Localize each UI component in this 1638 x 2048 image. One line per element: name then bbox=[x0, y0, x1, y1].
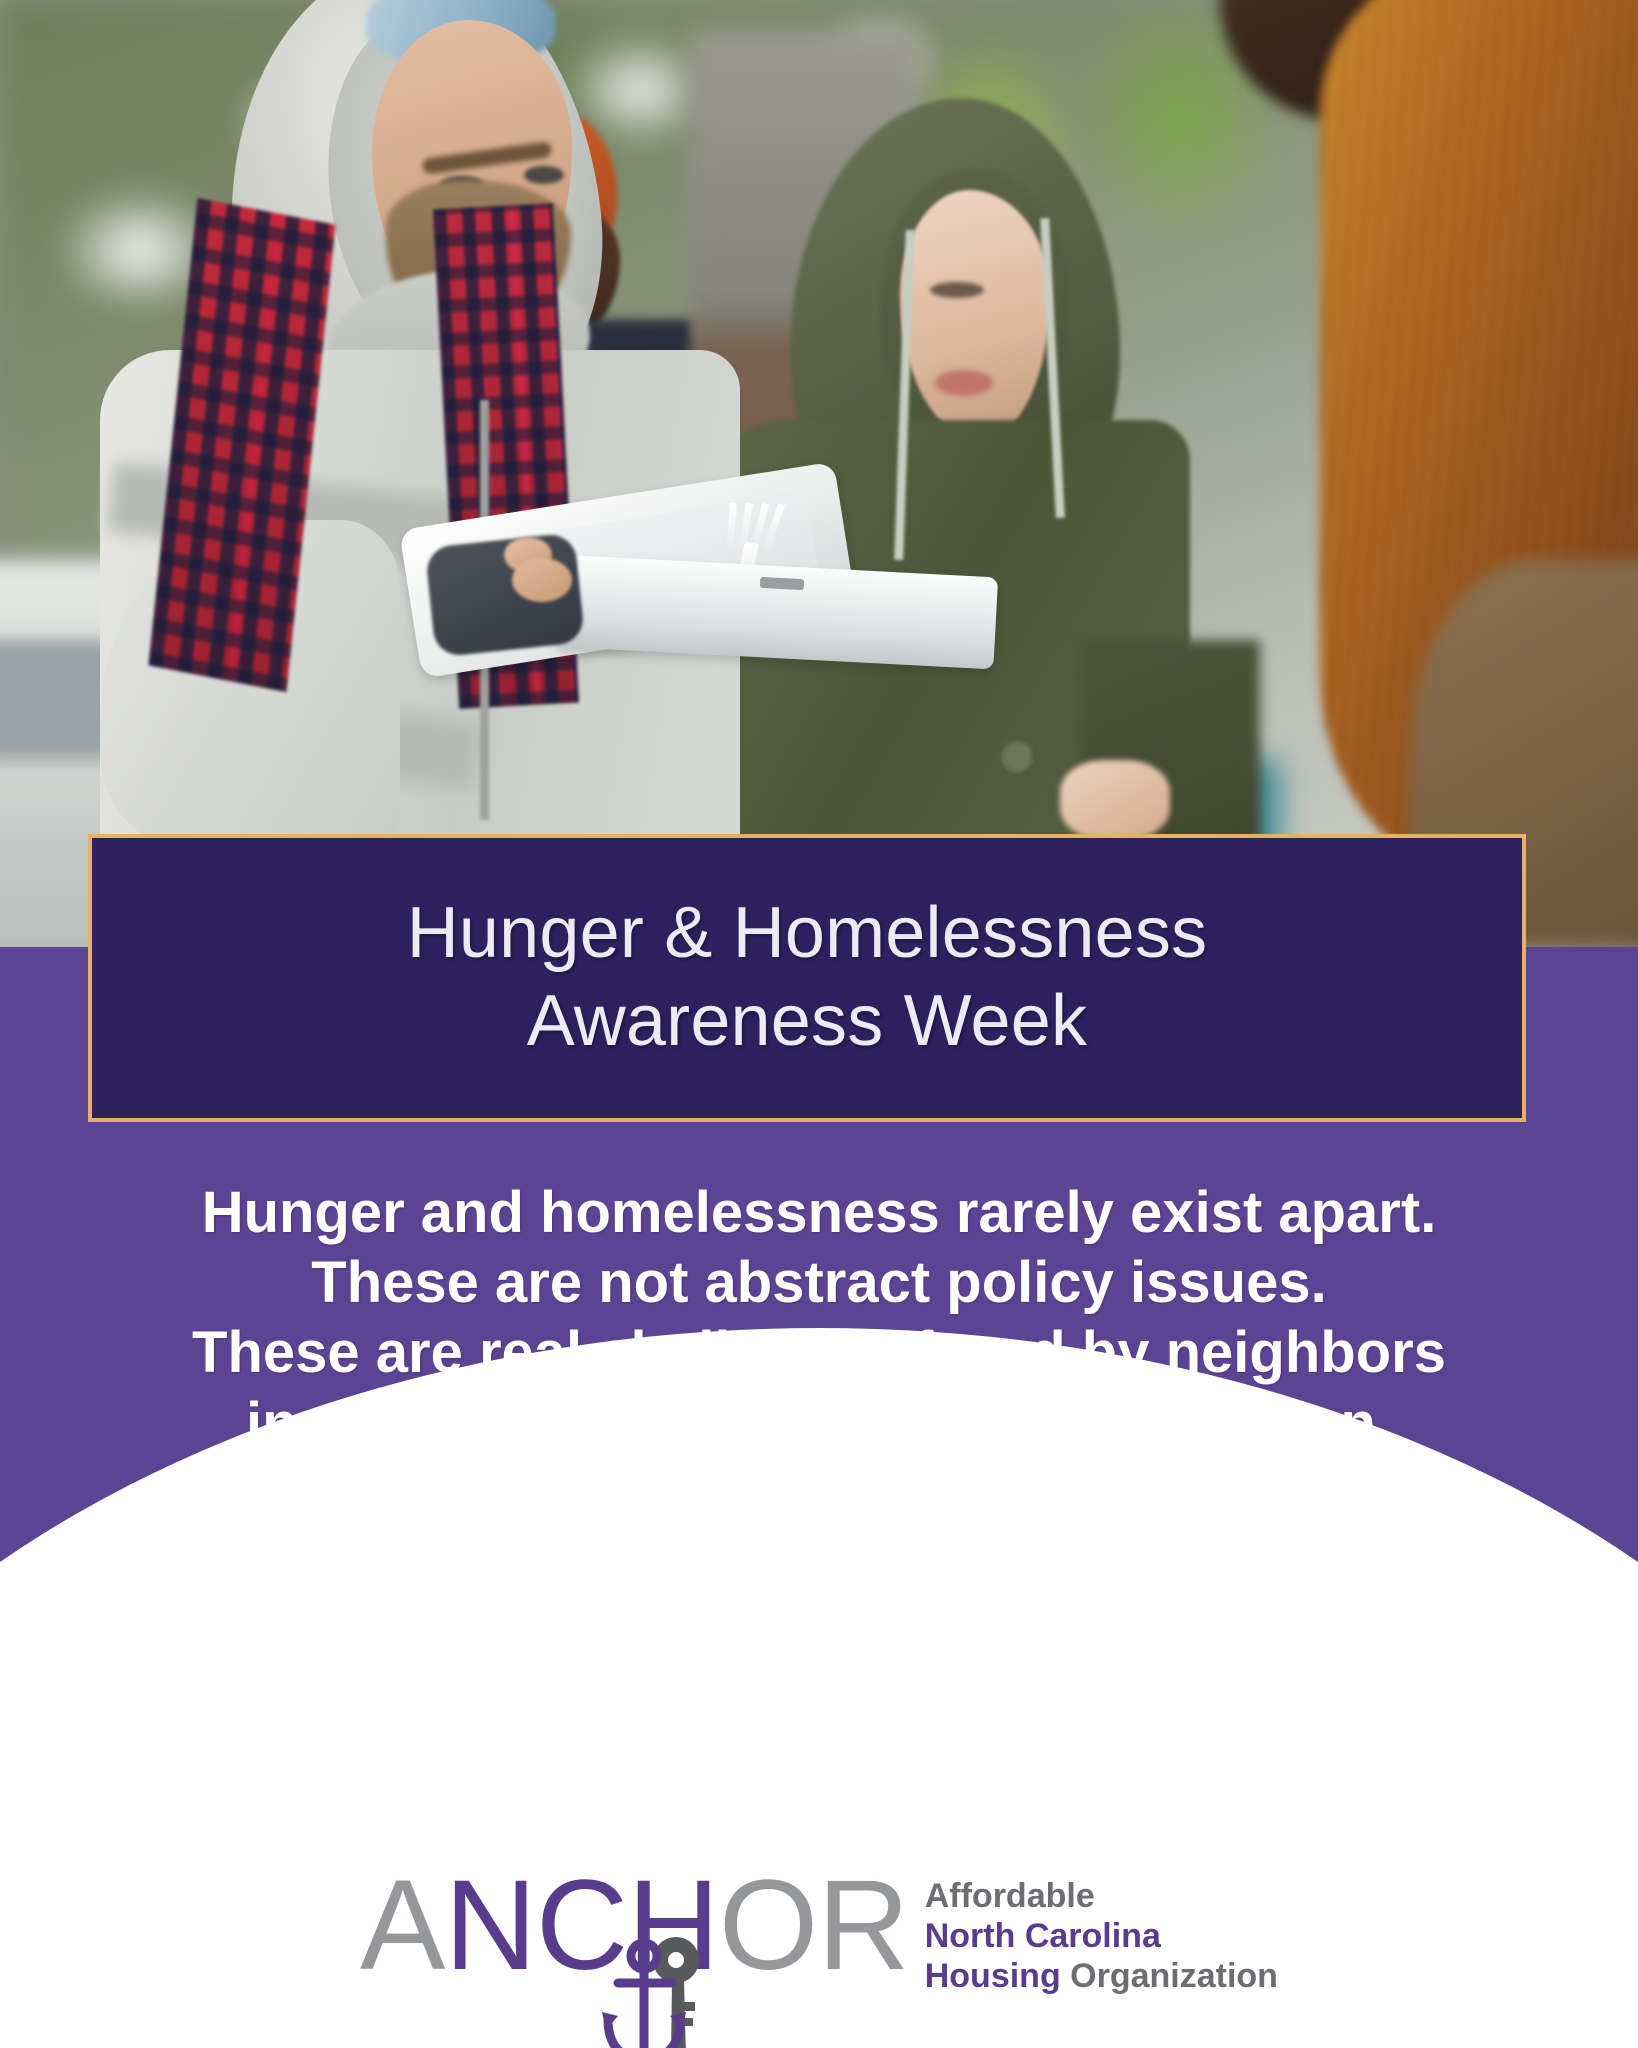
title-line-1: Hunger & Homelessness bbox=[407, 893, 1208, 973]
title-banner: Hunger & Homelessness Awareness Week bbox=[88, 834, 1526, 1122]
tagline-line-1: Affordable bbox=[925, 1876, 1278, 1916]
body-line-2: These are not abstract policy issues. bbox=[0, 1248, 1638, 1318]
logo-letter-r: R bbox=[817, 1854, 908, 1997]
logo-letter-a: A bbox=[360, 1854, 444, 1997]
logo-wordmark: ANCHOR bbox=[360, 1862, 909, 1990]
photo-person3-lips bbox=[935, 370, 993, 396]
title-line-2: Awareness Week bbox=[527, 981, 1087, 1061]
photo-person3-pocket-button bbox=[1000, 740, 1034, 774]
poster-canvas: Hunger & Homelessness Awareness Week Hun… bbox=[0, 0, 1638, 2048]
logo-tagline: Affordable North Carolina Housing Organi… bbox=[925, 1876, 1278, 1996]
page-title: Hunger & Homelessness Awareness Week bbox=[407, 890, 1208, 1066]
tagline-line-3: Housing Organization bbox=[925, 1956, 1278, 1996]
photo-person1-eye-right bbox=[524, 166, 564, 184]
tagline-organization: Organization bbox=[1061, 1957, 1278, 1995]
photo-person3-hand bbox=[1060, 760, 1170, 840]
photo-person3-eye bbox=[930, 282, 984, 298]
anchor-and-key-icon bbox=[588, 1920, 738, 2048]
photo-thumb bbox=[512, 558, 572, 602]
photo-meal-container-vent bbox=[760, 577, 805, 590]
body-line-1: Hunger and homelessness rarely exist apa… bbox=[0, 1178, 1638, 1248]
hero-photo bbox=[0, 0, 1638, 947]
tagline-housing: Housing bbox=[925, 1957, 1061, 1995]
organization-logo[interactable]: ANCHOR bbox=[0, 1862, 1638, 1996]
tagline-line-2: North Carolina bbox=[925, 1916, 1278, 1956]
